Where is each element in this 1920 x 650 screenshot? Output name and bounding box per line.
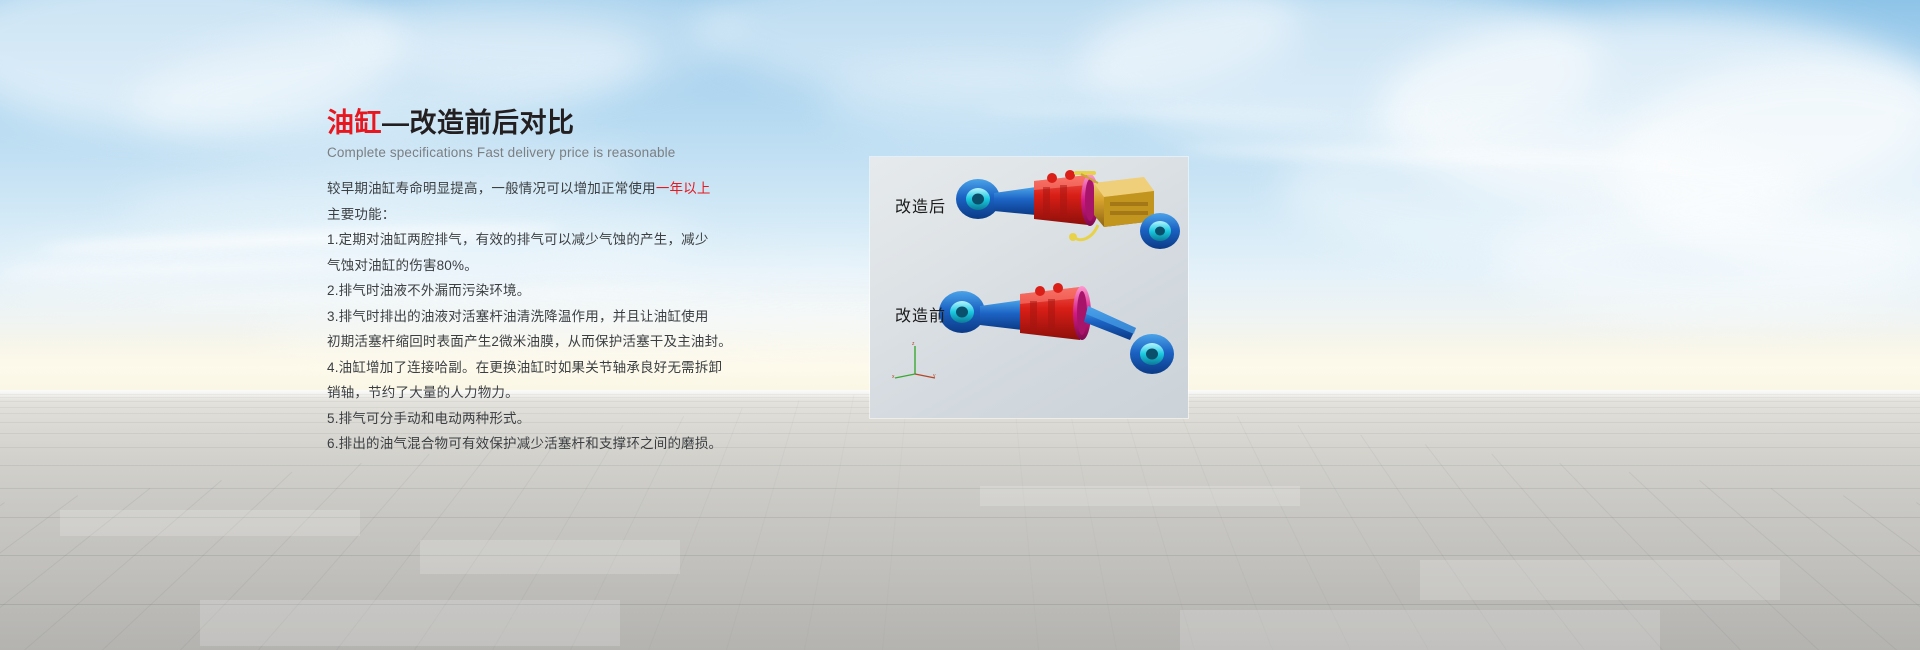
label-before: 改造前 [895, 302, 946, 326]
paving-seam [0, 555, 1920, 556]
feature-line: 销轴，节约了大量的人力物力。 [327, 380, 847, 406]
feature-line: 3.排气时排出的油液对活塞杆油清洗降温作用，并且让油缸使用 [327, 304, 847, 330]
label-after: 改造后 [895, 193, 946, 217]
feature-line-text: 3.排气时排出的油液对活塞杆油清洗降温作用，并且让油缸使用 [327, 309, 709, 324]
title-rest: —改造前后对比 [382, 108, 575, 138]
feature-line-text: 2.排气时油液不外漏而污染环境。 [327, 283, 530, 298]
paving-seam [0, 502, 5, 650]
paving-seam [1916, 502, 1920, 650]
feature-line-text: 5.排气可分手动和电动两种形式。 [327, 411, 530, 426]
paving-slab [200, 600, 620, 646]
paving-seam [0, 447, 1920, 448]
page-subtitle: Complete specifications Fast delivery pr… [327, 145, 847, 160]
feature-line: 2.排气时油液不外漏而污染环境。 [327, 278, 847, 304]
page-title: 油缸—改造前后对比 [327, 108, 847, 139]
feature-line-text: 主要功能： [327, 207, 396, 222]
product-comparison-panel: 改造后 改造前 z x y [870, 157, 1188, 418]
feature-line: 主要功能： [327, 202, 847, 228]
banner-content: 油缸—改造前后对比 Complete specifications Fast d… [327, 108, 847, 457]
feature-line-text: 较早期油缸寿命明显提高，一般情况可以增加正常使用 [327, 181, 656, 196]
svg-text:y: y [933, 373, 936, 379]
feature-line-text: 气蚀对油缸的伤害80%。 [327, 258, 478, 273]
paving-slab [1420, 560, 1780, 600]
feature-line-text: 初期活塞杆缩回时表面产生2微米油膜，从而保护活塞干及主油封。 [327, 334, 732, 349]
feature-text-block: 较早期油缸寿命明显提高，一般情况可以增加正常使用一年以上主要功能：1.定期对油缸… [327, 176, 847, 457]
feature-line-text: 销轴，节约了大量的人力物力。 [327, 385, 519, 400]
coordinate-axis-icon: z x y [892, 340, 938, 380]
paving-slab [420, 540, 680, 574]
feature-line: 较早期油缸寿命明显提高，一般情况可以增加正常使用一年以上 [327, 176, 847, 202]
paving-seam [1013, 391, 1039, 650]
feature-line: 5.排气可分手动和电动两种形式。 [327, 406, 847, 432]
ground-plane [0, 390, 1920, 650]
paving-seam [0, 433, 1920, 434]
feature-line-text: 6.排出的油气混合物可有效保护减少活塞杆和支撑环之间的磨损。 [327, 436, 722, 451]
feature-line: 1.定期对油缸两腔排气，有效的排气可以减少气蚀的产生，减少 [327, 227, 847, 253]
hero-banner: 油缸—改造前后对比 Complete specifications Fast d… [0, 0, 1920, 650]
paving-seam [0, 422, 1920, 423]
hydraulic-cylinder-after-render [948, 169, 1182, 279]
feature-line-text: 1.定期对油缸两腔排气，有效的排气可以减少气蚀的产生，减少 [327, 232, 709, 247]
title-highlight: 油缸 [327, 108, 382, 138]
feature-line-highlight: 一年以上 [656, 181, 711, 196]
paving-seam [0, 488, 1920, 489]
feature-line: 初期活塞杆缩回时表面产生2微米油膜，从而保护活塞干及主油封。 [327, 329, 847, 355]
feature-line: 4.油缸增加了连接哈副。在更换油缸时如果关节轴承良好无需拆卸 [327, 355, 847, 381]
paving-seam [0, 465, 1920, 466]
cloud-shape [1500, 200, 1920, 320]
feature-line-text: 4.油缸增加了连接哈副。在更换油缸时如果关节轴承良好无需拆卸 [327, 360, 722, 375]
hydraulic-cylinder-before-render [930, 282, 1180, 402]
feature-line: 气蚀对油缸的伤害80%。 [327, 253, 847, 279]
feature-line: 6.排出的油气混合物可有效保护减少活塞杆和支撑环之间的磨损。 [327, 431, 847, 457]
paving-slab [60, 510, 360, 536]
paving-slab [980, 486, 1300, 506]
paving-seam [882, 391, 908, 650]
cloud-shape [820, 60, 1120, 140]
svg-text:x: x [892, 374, 895, 380]
paving-slab [1180, 610, 1660, 650]
